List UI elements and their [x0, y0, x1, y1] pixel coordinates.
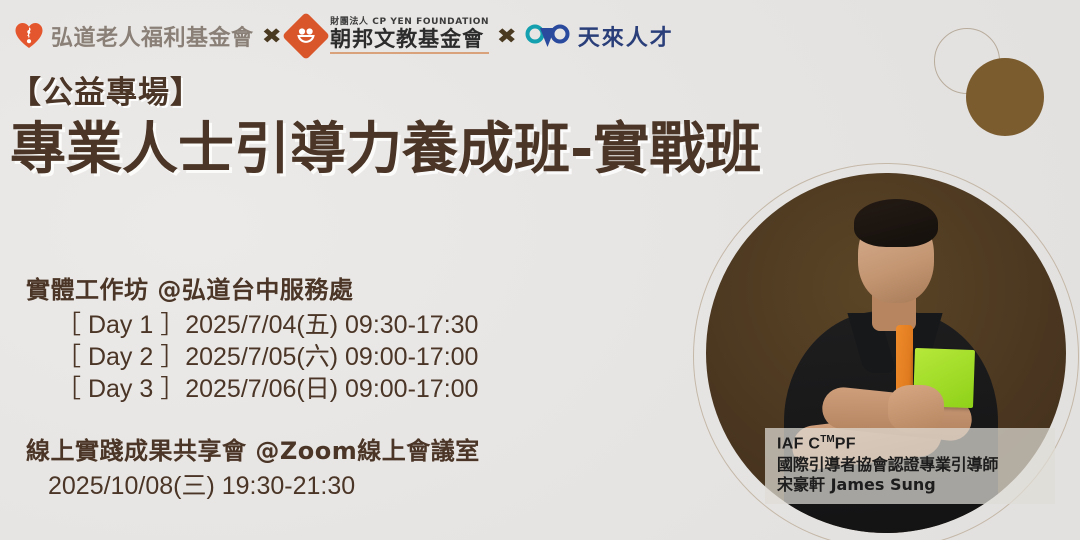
logo-tianlai-label: 天來人才 [578, 20, 674, 52]
partner-logo-bar: 弘道老人福利基金會 ✖ 財團法人 CP YEN FOUNDATION 朝邦文教基… [14, 14, 674, 58]
logo-cpyen-eyebrow: 財團法人 CP YEN FOUNDATION [330, 18, 489, 27]
logo-tianlai[interactable]: 天來人才 [525, 20, 674, 52]
schedule-line-online: 2025/10/08(三) 19:30-21:30 [48, 470, 480, 502]
credential-tm-mark: TM [820, 434, 834, 445]
schedule-heading-onsite: 實體工作坊 @弘道台中服務處 [26, 270, 480, 305]
logo-separator-1: ✖ [261, 26, 281, 47]
schedule-line-day3: ［ Day 3 ］2025/7/06(日) 09:00-17:00 [56, 373, 480, 405]
diamond-cp-icon [282, 12, 330, 60]
poster-canvas: 弘道老人福利基金會 ✖ 財團法人 CP YEN FOUNDATION 朝邦文教基… [0, 0, 1080, 540]
logo-cpyen-underline [330, 52, 489, 54]
decorative-brown-circle [966, 58, 1044, 136]
speaker-name: 宋豪軒 James Sung [777, 475, 1045, 496]
speaker-hand [888, 385, 944, 433]
tianlai-loops-icon [525, 23, 571, 49]
logo-cpyen-label: 朝邦文教基金會 [330, 29, 489, 50]
logo-hongdao[interactable]: 弘道老人福利基金會 [14, 20, 254, 52]
credential-prefix: IAF C [777, 435, 820, 452]
speaker-credential-title: 國際引導者協會認證專業引導師 [777, 454, 1045, 476]
logo-separator-2: ✖ [497, 26, 517, 47]
schedule-line-day1: ［ Day 1 ］2025/7/04(五) 09:30-17:30 [56, 309, 480, 341]
page-title: 專業人士引導力養成班-實戰班 [10, 104, 761, 185]
credential-suffix: PF [835, 435, 856, 452]
schedule-group-onsite: 實體工作坊 @弘道台中服務處 ［ Day 1 ］2025/7/04(五) 09:… [26, 270, 480, 405]
schedule-block: 實體工作坊 @弘道台中服務處 ［ Day 1 ］2025/7/04(五) 09:… [26, 270, 480, 502]
logo-cpyen[interactable]: 財團法人 CP YEN FOUNDATION 朝邦文教基金會 [289, 18, 489, 54]
speaker-hair [854, 199, 938, 247]
heart-figure-icon [14, 21, 44, 51]
speaker-credential-code: IAF CTMPF [777, 434, 1045, 454]
schedule-heading-online: 線上實踐成果共享會 @Zoom線上會議室 [26, 431, 480, 466]
logo-hongdao-label: 弘道老人福利基金會 [51, 20, 254, 52]
speaker-credential-box: IAF CTMPF 國際引導者協會認證專業引導師 宋豪軒 James Sung [765, 428, 1055, 504]
schedule-line-day2: ［ Day 2 ］2025/7/05(六) 09:00-17:00 [56, 341, 480, 373]
schedule-group-online: 線上實踐成果共享會 @Zoom線上會議室 2025/10/08(三) 19:30… [26, 431, 480, 502]
